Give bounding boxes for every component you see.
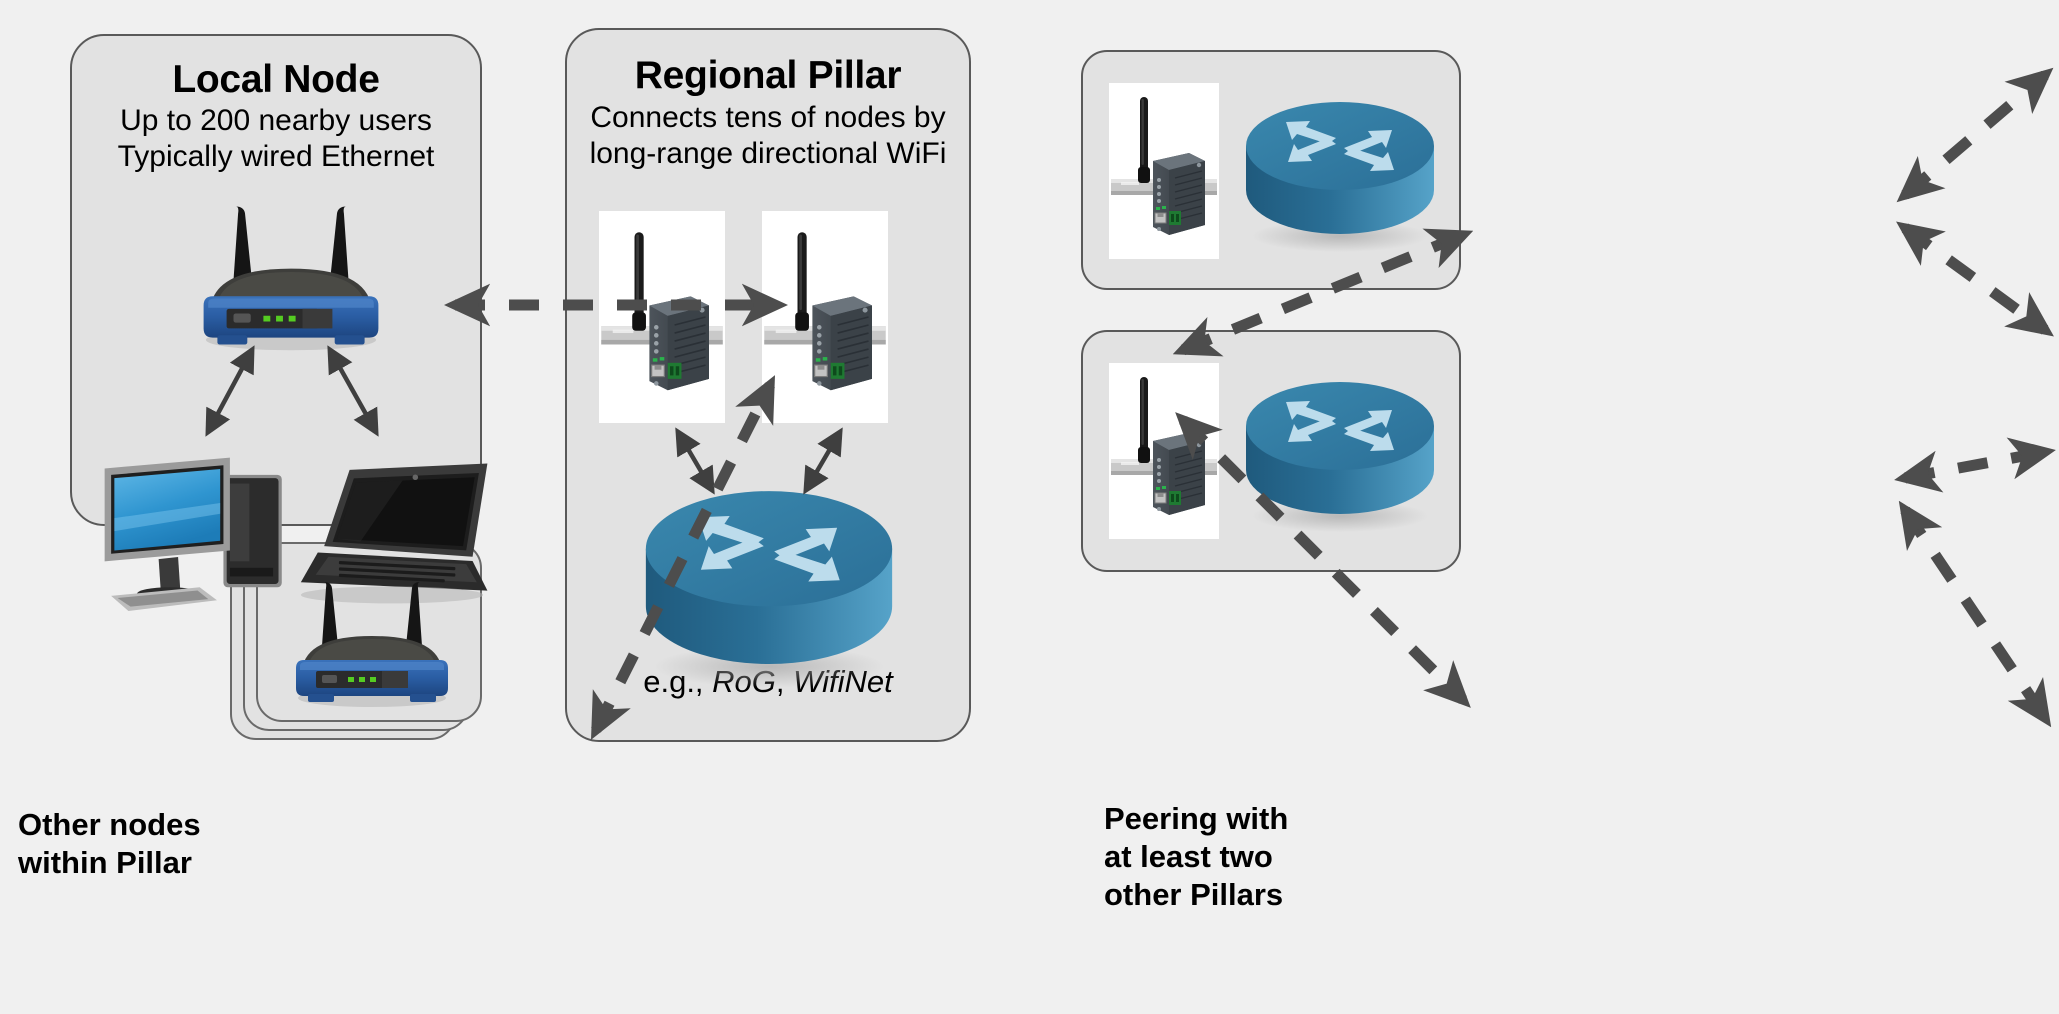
peering-label-line-2: at least two [1104, 838, 1434, 876]
regional-pillar-title: Regional Pillar [565, 54, 971, 98]
link-peer-1-upstream-b [1905, 228, 2045, 330]
local-node-title: Local Node [70, 58, 482, 102]
local-node-wifi-router-icon [176, 195, 406, 356]
regional-pillar-subtitle: Connects tens of nodes by long-range dir… [548, 100, 988, 172]
link-peer-2-upstream-a [1905, 452, 2045, 478]
pillar-access-point-photo-left [599, 211, 725, 423]
other-nodes-wifi-router-icon [272, 572, 472, 712]
local-node-subtitle: Up to 200 nearby users Typically wired E… [56, 103, 496, 175]
peering-label-line-3: other Pillars [1104, 876, 1434, 914]
local-node-subtitle-line-2: Typically wired Ethernet [56, 139, 496, 175]
peer-pillar-2-access-point-photo [1109, 363, 1219, 539]
peer-pillar-2-router-icon [1240, 366, 1440, 536]
link-peer-1-upstream-a [1905, 75, 2045, 195]
peering-label-line-1: Peering with [1104, 800, 1434, 838]
peer-pillar-1-access-point-photo [1109, 83, 1219, 259]
local-node-subtitle-line-1: Up to 200 nearby users [56, 103, 496, 139]
din-rail-wifi-access-point-icon [762, 211, 888, 423]
regional-pillar-router-icon [638, 470, 900, 693]
other-nodes-label-line-2: within Pillar [18, 844, 298, 882]
link-peer-2-upstream-b [1905, 510, 2045, 718]
peering-label: Peering with at least two other Pillars [1104, 800, 1434, 914]
regional-pillar-subtitle-line-1: Connects tens of nodes by [548, 100, 988, 136]
other-nodes-label-line-1: Other nodes [18, 806, 298, 844]
diagram-canvas: Local Node Up to 200 nearby users Typica… [0, 0, 2059, 1014]
din-rail-wifi-access-point-icon [599, 211, 725, 423]
peer-pillar-1-router-icon [1240, 86, 1440, 256]
other-nodes-label: Other nodes within Pillar [18, 806, 298, 882]
din-rail-wifi-access-point-icon [1109, 363, 1219, 539]
pillar-access-point-photo-right [762, 211, 888, 423]
din-rail-wifi-access-point-icon [1109, 83, 1219, 259]
regional-pillar-subtitle-line-2: long-range directional WiFi [548, 136, 988, 172]
